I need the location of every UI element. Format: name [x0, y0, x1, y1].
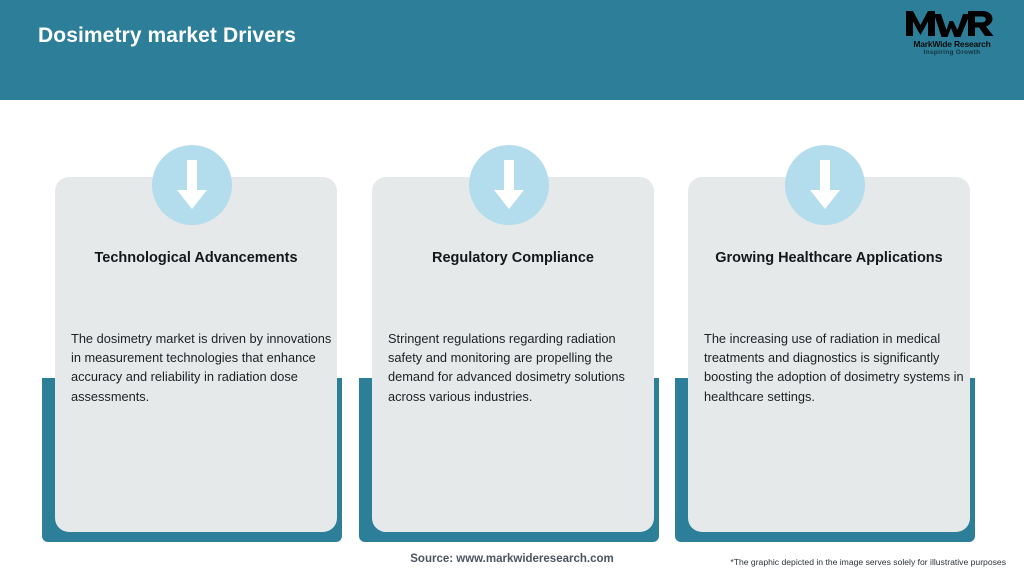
disclaimer-note: *The graphic depicted in the image serve…	[730, 557, 1006, 567]
driver-title: Growing Healthcare Applications	[704, 247, 954, 269]
driver-column-2[interactable]: Regulatory Compliance Stringent regulati…	[359, 100, 659, 540]
driver-description: Stringent regulations regarding radiatio…	[388, 329, 650, 406]
driver-card[interactable]: Regulatory Compliance Stringent regulati…	[372, 177, 654, 532]
markwide-research-logo: MarkWide Research Inspiring Growth	[900, 8, 1004, 62]
arrow-down-glyph	[176, 160, 208, 210]
arrow-down-icon	[785, 145, 865, 225]
driver-column-3[interactable]: Growing Healthcare Applications The incr…	[675, 100, 975, 540]
arrow-down-icon	[152, 145, 232, 225]
driver-card[interactable]: Growing Healthcare Applications The incr…	[688, 177, 970, 532]
page-title: Dosimetry market Drivers	[38, 24, 296, 48]
driver-description: The dosimetry market is driven by innova…	[71, 329, 333, 406]
logo-company-name: MarkWide Research	[900, 39, 1004, 49]
arrow-down-glyph	[493, 160, 525, 210]
driver-title: Regulatory Compliance	[388, 247, 638, 269]
driver-description: The increasing use of radiation in medic…	[704, 329, 966, 406]
drivers-board: Technological Advancements The dosimetry…	[0, 100, 1024, 540]
driver-title: Technological Advancements	[71, 247, 321, 269]
header-bar: Dosimetry market Drivers MarkWide Resear…	[0, 0, 1024, 100]
mwr-logo-icon	[904, 8, 1000, 38]
driver-column-1[interactable]: Technological Advancements The dosimetry…	[42, 100, 342, 540]
driver-card[interactable]: Technological Advancements The dosimetry…	[55, 177, 337, 532]
logo-tagline: Inspiring Growth	[900, 49, 1004, 57]
arrow-down-icon	[469, 145, 549, 225]
arrow-down-glyph	[809, 160, 841, 210]
